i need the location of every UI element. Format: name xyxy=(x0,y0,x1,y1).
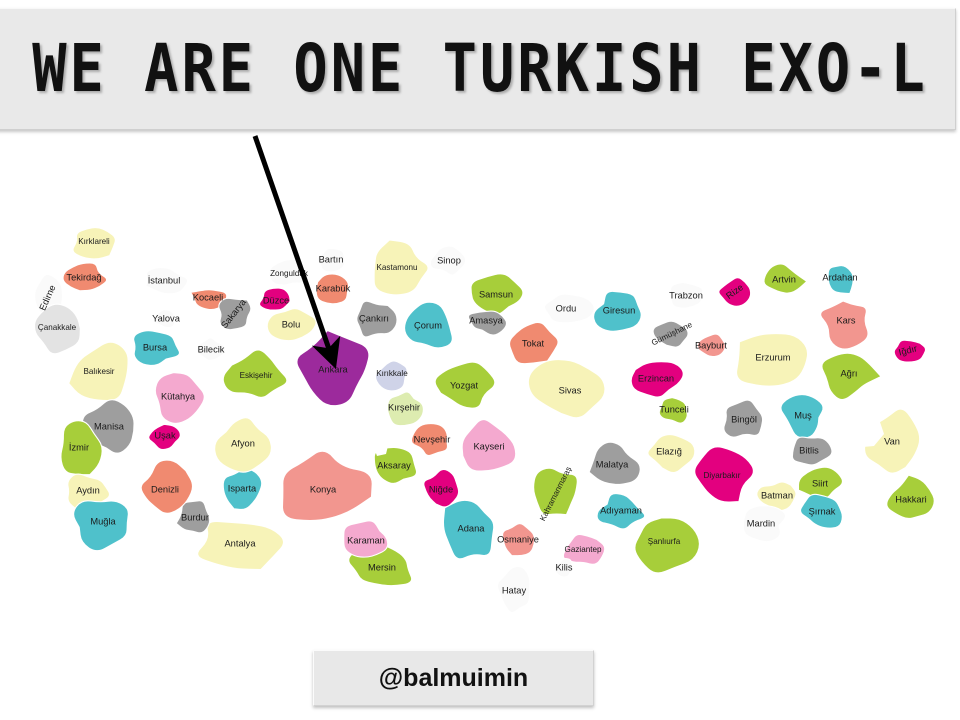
province-label-batman: Batman xyxy=(761,490,793,500)
turkey-province-map[interactable]: EdirneKırklareliTekirdağİstanbulKocaeliY… xyxy=(8,186,952,616)
province-label-i-zmir: İzmir xyxy=(69,442,89,452)
province-label-kastamonu: Kastamonu xyxy=(377,263,418,272)
province-label-manisa: Manisa xyxy=(94,421,125,431)
province-label-afyon: Afyon xyxy=(231,438,255,448)
province-label-tunceli: Tunceli xyxy=(659,404,689,414)
province-label-k-r-kkale: Kırıkkale xyxy=(376,369,408,378)
province-label-kilis: Kilis xyxy=(555,562,572,572)
province-label-bing-l: Bingöl xyxy=(731,414,757,424)
province-label--orum: Çorum xyxy=(414,320,442,330)
province-label-i-stanbul: İstanbul xyxy=(148,275,181,285)
province-label-mersin: Mersin xyxy=(368,562,396,572)
province-label-k-r-ehir: Kırşehir xyxy=(388,402,420,412)
province-label-kocaeli: Kocaeli xyxy=(193,292,224,302)
province-label-karaman: Karaman xyxy=(347,535,385,545)
province-label-d-zce: Düzce xyxy=(263,295,289,305)
province-label-k-rklareli: Kırklareli xyxy=(78,237,110,246)
province-label-zonguldak: Zonguldak xyxy=(270,269,309,278)
province-label-sivas: Sivas xyxy=(559,385,582,395)
slide-canvas: WE ARE ONE TURKISH EXO-L EdirneKırklarel… xyxy=(0,0,960,720)
province-label--ank-r-: Çankırı xyxy=(359,313,389,323)
province-label-isparta: Isparta xyxy=(228,483,257,493)
province-label-denizli: Denizli xyxy=(151,484,179,494)
province-label-yalova: Yalova xyxy=(152,313,181,323)
province-label--rnak: Şırnak xyxy=(809,506,836,516)
province-label-ad-yaman: Adıyaman xyxy=(600,505,642,515)
province-label-diyarbak-r: Diyarbakır xyxy=(704,471,741,480)
province-label-karab-k: Karabük xyxy=(316,283,351,293)
province-label-tokat: Tokat xyxy=(522,338,545,348)
province-label-bart-n: Bartın xyxy=(319,254,344,264)
province-label-van: Van xyxy=(884,436,900,446)
province-label-mu-: Muş xyxy=(794,410,812,420)
province-label-u-ak: Uşak xyxy=(154,430,176,440)
province-label-nev-ehir: Nevşehir xyxy=(414,434,451,444)
province-label-yozgat: Yozgat xyxy=(450,380,479,390)
province-label-kayseri: Kayseri xyxy=(473,441,504,451)
province-label-ordu: Ordu xyxy=(556,303,577,313)
title-banner: WE ARE ONE TURKISH EXO-L xyxy=(0,8,956,130)
province-label-giresun: Giresun xyxy=(603,305,636,315)
lake-van xyxy=(832,416,884,448)
province-label-konya: Konya xyxy=(310,484,337,494)
province-label-k-tahya: Kütahya xyxy=(161,391,196,401)
province-label-ni-de: Niğde xyxy=(429,484,453,494)
province-label-hakkari: Hakkari xyxy=(895,494,927,504)
province-label-siirt: Siirt xyxy=(812,478,828,488)
province-label-malatya: Malatya xyxy=(596,459,629,469)
province-label-bayburt: Bayburt xyxy=(695,340,727,350)
province-label-hatay: Hatay xyxy=(502,585,527,595)
author-handle: @balmuimin xyxy=(379,664,528,693)
province-label-tekirda-: Tekirdağ xyxy=(66,272,101,282)
province-label-artvin: Artvin xyxy=(772,274,796,284)
province-label-bal-kesir: Balıkesir xyxy=(83,367,114,376)
province-label-samsun: Samsun xyxy=(479,289,513,299)
province-label-ardahan: Ardahan xyxy=(822,272,857,282)
page-title: WE ARE ONE TURKISH EXO-L xyxy=(22,31,928,107)
province-label-bolu: Bolu xyxy=(282,319,301,329)
province-label-elaz-: Elazığ xyxy=(656,446,682,456)
province-label-kars: Kars xyxy=(836,315,855,325)
province-label-eski-ehir: Eskişehir xyxy=(240,371,273,380)
province-label-bilecik: Bilecik xyxy=(198,344,225,354)
province-label-mardin: Mardin xyxy=(747,518,775,528)
province-label--anl-urfa: Şanlıurfa xyxy=(648,537,681,546)
province-label-gaziantep: Gaziantep xyxy=(565,545,602,554)
province-label-erzincan: Erzincan xyxy=(638,373,674,383)
province-label-erzurum: Erzurum xyxy=(755,352,790,362)
province-label-a-r-: Ağrı xyxy=(840,368,857,378)
province-label-adana: Adana xyxy=(458,523,486,533)
province-label-bitlis: Bitlis xyxy=(799,445,819,455)
province-label-amasya: Amasya xyxy=(469,315,503,325)
province-label-mu-la: Muğla xyxy=(90,516,116,526)
province-label-bursa: Bursa xyxy=(143,342,168,352)
province-label-sinop: Sinop xyxy=(437,255,461,265)
map-svg[interactable]: EdirneKırklareliTekirdağİstanbulKocaeliY… xyxy=(8,186,952,616)
province-label-osmaniye: Osmaniye xyxy=(497,534,539,544)
province-label-aksaray: Aksaray xyxy=(377,460,411,470)
province-label-ayd-n: Aydın xyxy=(76,485,100,495)
caption-plate: @balmuimin xyxy=(313,650,594,706)
province-label-burdur: Burdur xyxy=(181,512,209,522)
province-label-ankara: Ankara xyxy=(318,364,348,374)
province-label-trabzon: Trabzon xyxy=(669,290,703,300)
province-label-antalya: Antalya xyxy=(224,538,256,548)
province-label--anakkale: Çanakkale xyxy=(38,323,77,332)
